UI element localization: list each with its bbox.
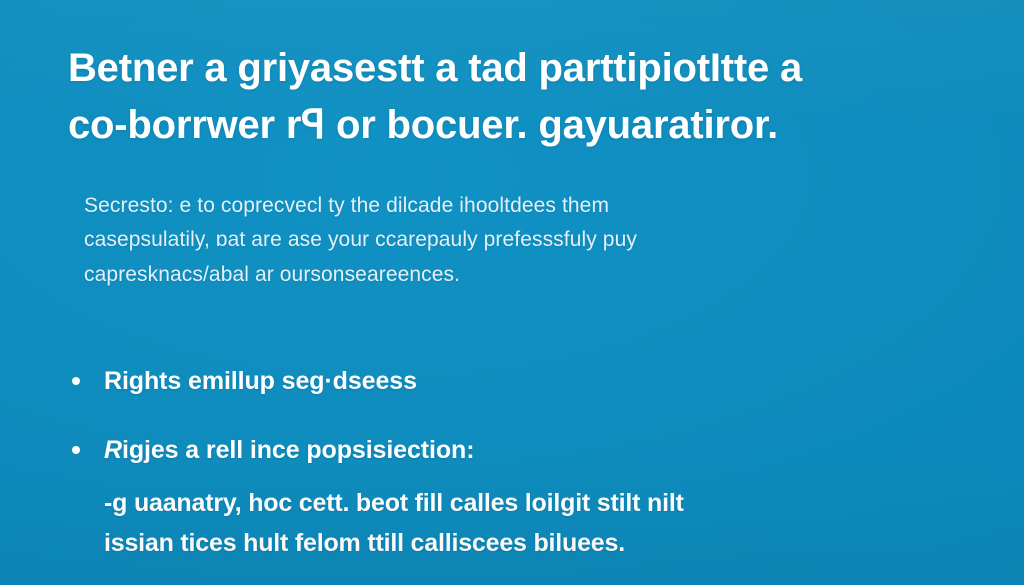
- bullet-item-text-1: Rights emillup seg·dseess: [104, 365, 968, 398]
- bullet-dot-icon: [72, 446, 80, 454]
- bullet-sub-lines: -g uaanatry, hoc cett. beot fill calles …: [104, 484, 968, 563]
- list-item: Rights emillup seg·dseess: [68, 365, 968, 398]
- paragraph-line-2: casepsulatily, ɒat are ase your ccarepau…: [84, 223, 904, 258]
- bullet-dot-icon: [72, 377, 80, 385]
- slide-content: Betner a griyasestt a tad parttipiotItte…: [68, 40, 968, 563]
- bullet-sub-line-2: issian tices hult felom ttill calliscees…: [104, 524, 968, 564]
- slide-canvas: Betner a griyasestt a tad parttipiotItte…: [0, 0, 1024, 585]
- slide-heading: Betner a griyasestt a tad parttipiotItte…: [68, 40, 968, 154]
- slide-paragraph: Secresto: e to coprecvecl ty the dilcade…: [84, 189, 904, 294]
- paragraph-line-1: Secresto: e to coprecvecl ty the dilcade…: [84, 189, 904, 224]
- bullet-sub-line-1: -g uaanatry, hoc cett. beot fill calles …: [104, 484, 968, 524]
- bullet-list: Rights emillup seg·dseess Rigjes a rell …: [68, 365, 968, 563]
- heading-line-2: co-borrwer rꟼ or bocuer. gayuaratiror.: [68, 97, 968, 154]
- list-item: Rigjes a rell ince popsisiection: -g uaa…: [68, 434, 968, 564]
- paragraph-line-3: capresknacs/abal ar oursonseareences.: [84, 258, 904, 293]
- heading-line-1: Betner a griyasestt a tad parttipiotItte…: [68, 40, 968, 97]
- bullet-item-text-2: Rigjes a rell ince popsisiection:: [104, 434, 968, 467]
